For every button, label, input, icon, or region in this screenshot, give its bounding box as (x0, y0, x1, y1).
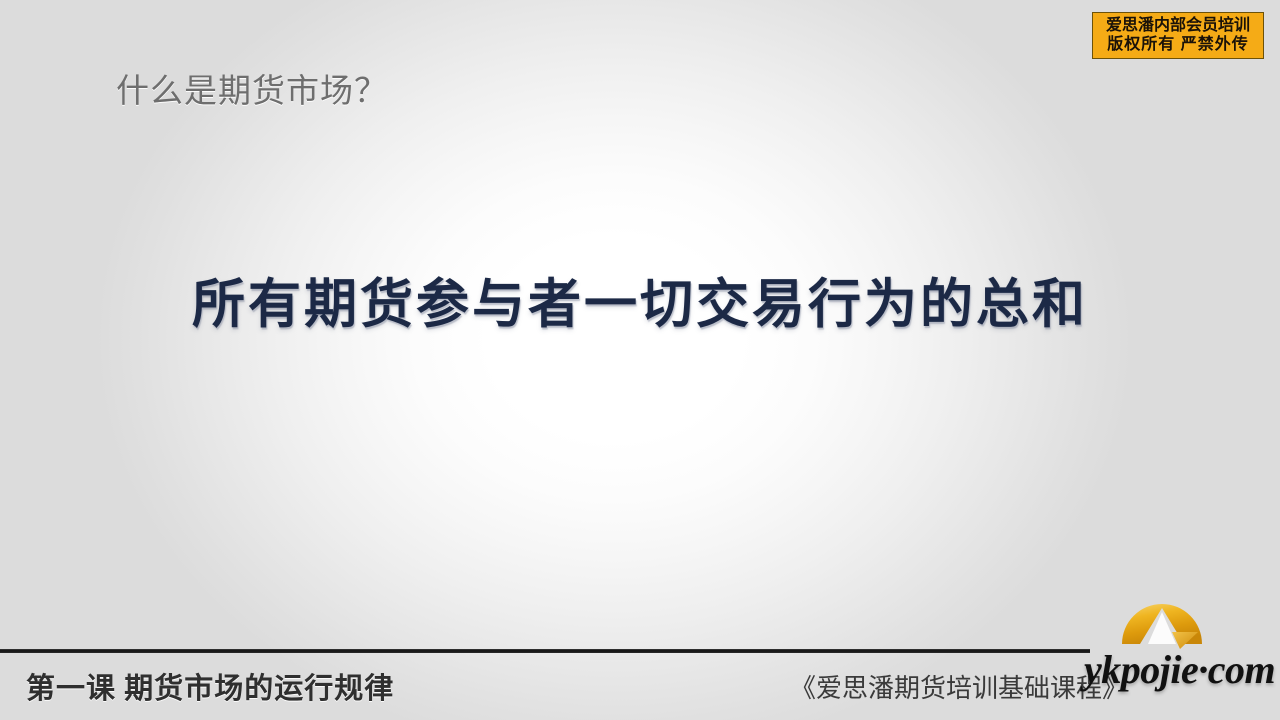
copyright-badge: 爱思潘内部会员培训 版权所有 严禁外传 (1092, 12, 1264, 59)
footer-divider (0, 649, 1090, 653)
copyright-badge-line-2: 版权所有 严禁外传 (1097, 35, 1259, 54)
golden-arch-logo-icon (1120, 592, 1204, 650)
footer-course-title: 《爱思潘期货培训基础课程》 (790, 668, 1128, 705)
site-watermark-text: ykpojie·com (1084, 646, 1275, 693)
site-watermark: ykpojie·com (1084, 592, 1280, 720)
slide-canvas: 什么是期货市场？ 所有期货参与者一切交易行为的总和 爱思潘内部会员培训 版权所有… (0, 0, 1280, 720)
headline-text: 所有期货参与者一切交易行为的总和 (192, 262, 1088, 338)
copyright-badge-line-1: 爱思潘内部会员培训 (1097, 16, 1259, 35)
headline-container: 所有期货参与者一切交易行为的总和 (0, 262, 1280, 338)
footer-lesson-title: 第一课 期货市场的运行规律 (26, 665, 394, 707)
page-title: 什么是期货市场？ (116, 64, 388, 112)
